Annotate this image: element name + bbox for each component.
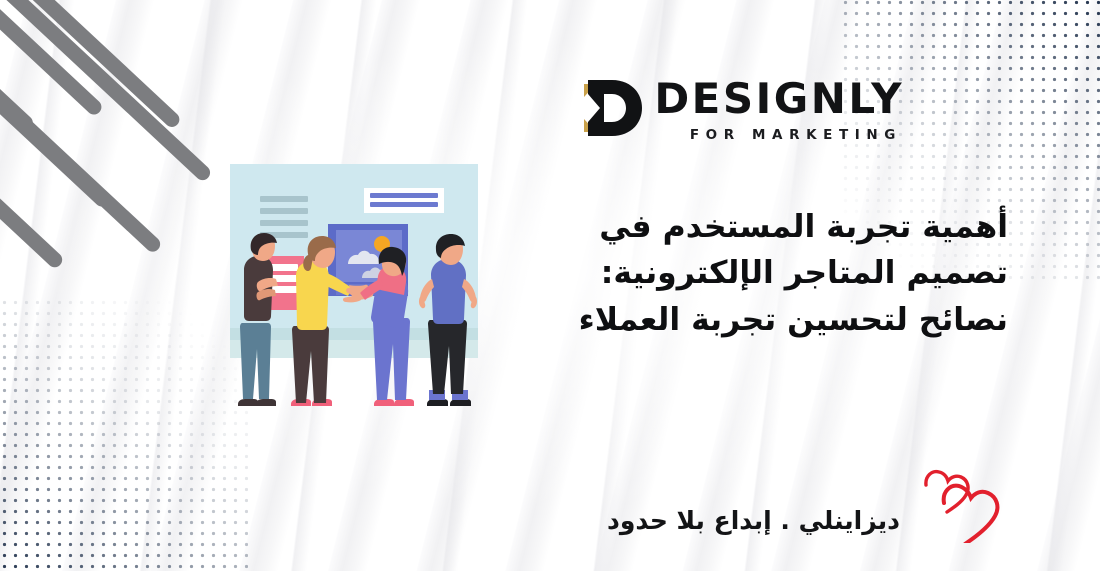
brand-logo: DESIGNLY FOR MARKETING (578, 74, 904, 143)
brand-name: DESIGNLY (654, 78, 904, 120)
double-heart-icon (914, 463, 1000, 543)
brand-tagline-en: FOR MARKETING (654, 127, 904, 143)
illustration-ux-team (222, 160, 488, 412)
headline-text: أهمية تجربة المستخدم في تصميم المتاجر ال… (528, 204, 1008, 343)
designly-d-monogram-icon (578, 74, 650, 142)
social-banner: DESIGNLY FOR MARKETING أهمية تجربة المست… (0, 0, 1100, 571)
footer-tagline-block: ديزاينلي . إبداع بلا حدود (607, 463, 1000, 537)
footer-tagline: ديزاينلي . إبداع بلا حدود (607, 506, 900, 537)
decoration-halftone-bottom-left (0, 297, 248, 571)
